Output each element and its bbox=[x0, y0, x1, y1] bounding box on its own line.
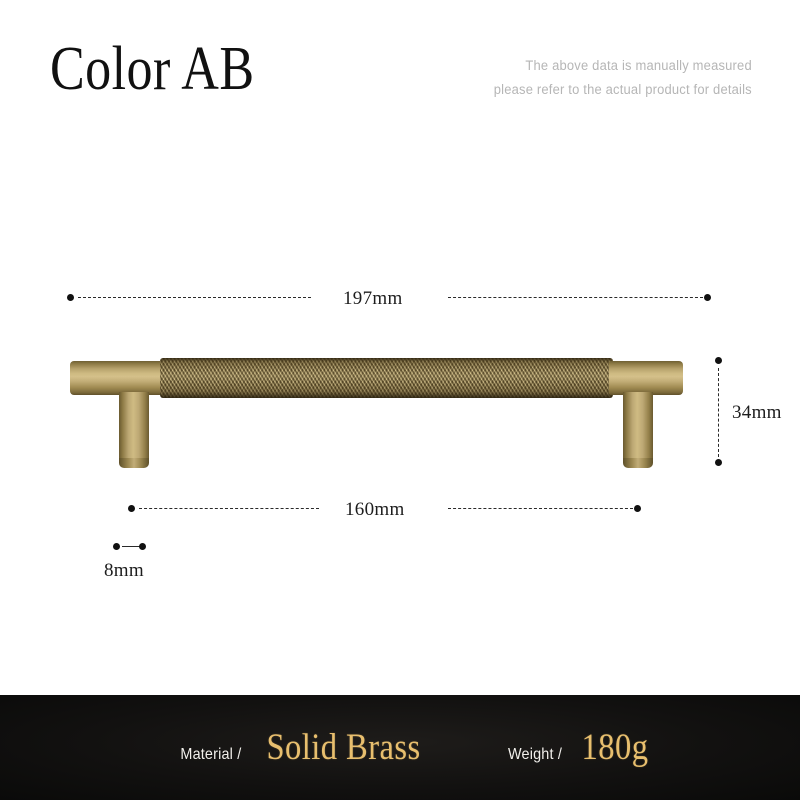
dim-dash-left-2 bbox=[139, 508, 319, 509]
disclaimer-note: The above data is manually measured plea… bbox=[494, 54, 752, 102]
spec-footer-band: Material / Solid Brass Weight / 180g bbox=[0, 695, 800, 800]
spec-weight: Weight / 180g bbox=[505, 726, 653, 769]
dim-dot-right bbox=[704, 294, 711, 301]
handle-right-post-foot bbox=[623, 458, 653, 468]
handle-right-bar-segment bbox=[609, 361, 683, 395]
dim-dot-top bbox=[715, 357, 722, 364]
disclaimer-line-1: The above data is manually measured bbox=[494, 54, 752, 78]
handle-left-mounting-post bbox=[119, 392, 149, 464]
spec-weight-value: 180g bbox=[582, 726, 649, 769]
spec-material-label: Material / bbox=[180, 746, 241, 764]
dim-dash-left bbox=[78, 297, 311, 298]
dim-dot-right-3 bbox=[139, 543, 146, 550]
handle-left-post-foot bbox=[119, 458, 149, 468]
dim-dash-vertical bbox=[718, 368, 719, 457]
dimension-label-center-to-center: 160mm bbox=[345, 499, 405, 521]
dim-line-small bbox=[122, 546, 140, 547]
dim-dot-right-2 bbox=[634, 505, 641, 512]
disclaimer-line-2: please refer to the actual product for d… bbox=[494, 78, 752, 102]
product-spec-page: Color AB The above data is manually meas… bbox=[0, 0, 800, 800]
page-title: Color AB bbox=[50, 38, 254, 100]
spec-weight-label: Weight / bbox=[508, 746, 562, 764]
dim-dash-right bbox=[448, 297, 703, 298]
dimension-label-overall-length: 197mm bbox=[343, 288, 403, 310]
handle-illustration bbox=[0, 0, 800, 800]
dim-dash-right-2 bbox=[448, 508, 633, 509]
dim-dot-left-3 bbox=[113, 543, 120, 550]
spec-material: Material / Solid Brass bbox=[177, 726, 432, 769]
handle-right-mounting-post bbox=[623, 392, 653, 464]
handle-left-bar-segment bbox=[70, 361, 164, 395]
handle-knurled-section bbox=[160, 358, 613, 398]
dim-dot-left bbox=[67, 294, 74, 301]
spec-material-value: Solid Brass bbox=[267, 726, 421, 769]
dim-dot-bottom bbox=[715, 459, 722, 466]
dim-dot-left-2 bbox=[128, 505, 135, 512]
dimension-label-projection-height: 34mm bbox=[732, 402, 782, 424]
dimension-label-bar-diameter: 8mm bbox=[104, 560, 144, 582]
